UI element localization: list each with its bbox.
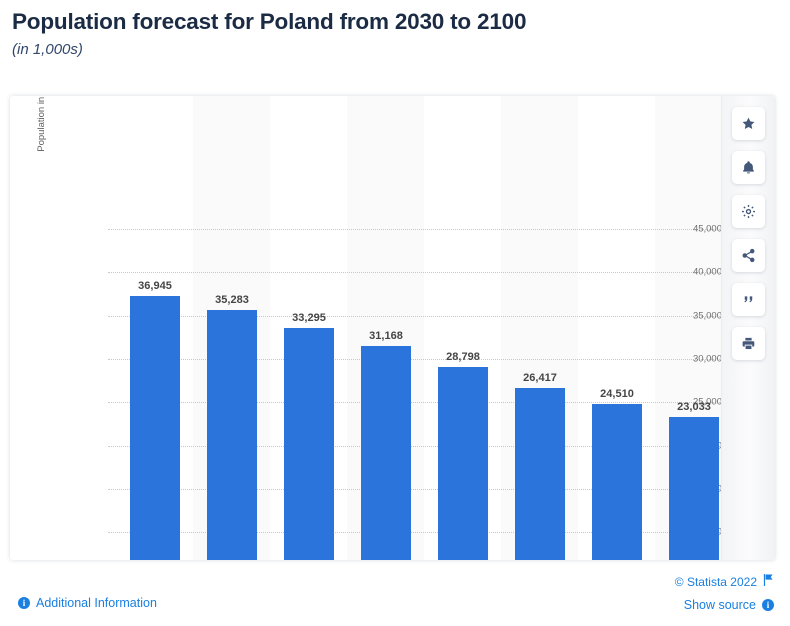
chart-subtitle: (in 1,000s) <box>12 41 778 58</box>
bar-value-label: 24,510 <box>582 388 652 400</box>
y-axis-tick-label: 45,000 <box>634 224 722 235</box>
plot-area: 45,000 40,000 35,000 30,000 25,000 20,00… <box>10 96 722 560</box>
bar-value-label: 35,283 <box>197 294 267 306</box>
gridline <box>108 402 722 403</box>
y-axis-tick-label: 35,000 <box>634 311 722 322</box>
copyright: © Statista 2022 <box>675 574 774 589</box>
print-button[interactable] <box>732 327 765 360</box>
y-axis-tick-label: 40,000 <box>634 267 722 278</box>
gear-icon <box>741 204 756 219</box>
chart-footer: i Additional Information © Statista 2022… <box>0 560 790 626</box>
gridline <box>108 229 722 230</box>
notify-button[interactable] <box>732 151 765 184</box>
y-axis-tick-label: 30,000 <box>634 354 722 365</box>
favorite-button[interactable] <box>732 107 765 140</box>
gridline <box>108 272 722 273</box>
bar-2090[interactable] <box>592 404 642 560</box>
show-source-label: Show source <box>684 598 756 612</box>
bar-value-label: 31,168 <box>351 330 421 342</box>
bell-icon <box>741 160 756 175</box>
share-icon <box>741 248 756 263</box>
bar-value-label: 33,295 <box>274 312 344 324</box>
bar-2060[interactable] <box>361 346 411 560</box>
cite-button[interactable] <box>732 283 765 316</box>
additional-information-link[interactable]: i Additional Information <box>18 596 157 610</box>
quote-icon <box>741 292 756 307</box>
settings-button[interactable] <box>732 195 765 228</box>
info-icon: i <box>18 597 30 609</box>
gridline <box>108 359 722 360</box>
show-source-link[interactable]: Show source i <box>684 598 774 612</box>
bar-2030[interactable] <box>130 296 180 560</box>
y-axis-title: Population in thousands <box>36 96 47 231</box>
bar-value-label: 28,798 <box>428 351 498 363</box>
chart-panel: 45,000 40,000 35,000 30,000 25,000 20,00… <box>10 96 775 560</box>
bar-2070[interactable] <box>438 367 488 560</box>
chart-toolbar <box>721 96 775 560</box>
bar-2080[interactable] <box>515 388 565 560</box>
bar-2100[interactable] <box>669 417 719 560</box>
additional-information-label: Additional Information <box>36 596 157 610</box>
bar-value-label: 26,417 <box>505 372 575 384</box>
bar-2050[interactable] <box>284 328 334 560</box>
share-button[interactable] <box>732 239 765 272</box>
bar-2040[interactable] <box>207 310 257 560</box>
chart-header: Population forecast for Poland from 2030… <box>0 0 790 58</box>
print-icon <box>741 336 756 351</box>
page-title: Population forecast for Poland from 2030… <box>12 8 778 35</box>
bar-value-label: 23,033 <box>659 401 729 413</box>
star-icon <box>741 116 756 131</box>
gridline <box>108 316 722 317</box>
copyright-label: © Statista 2022 <box>675 575 757 589</box>
flag-icon <box>763 574 774 589</box>
info-icon: i <box>762 599 774 611</box>
bar-value-label: 36,945 <box>120 280 190 292</box>
